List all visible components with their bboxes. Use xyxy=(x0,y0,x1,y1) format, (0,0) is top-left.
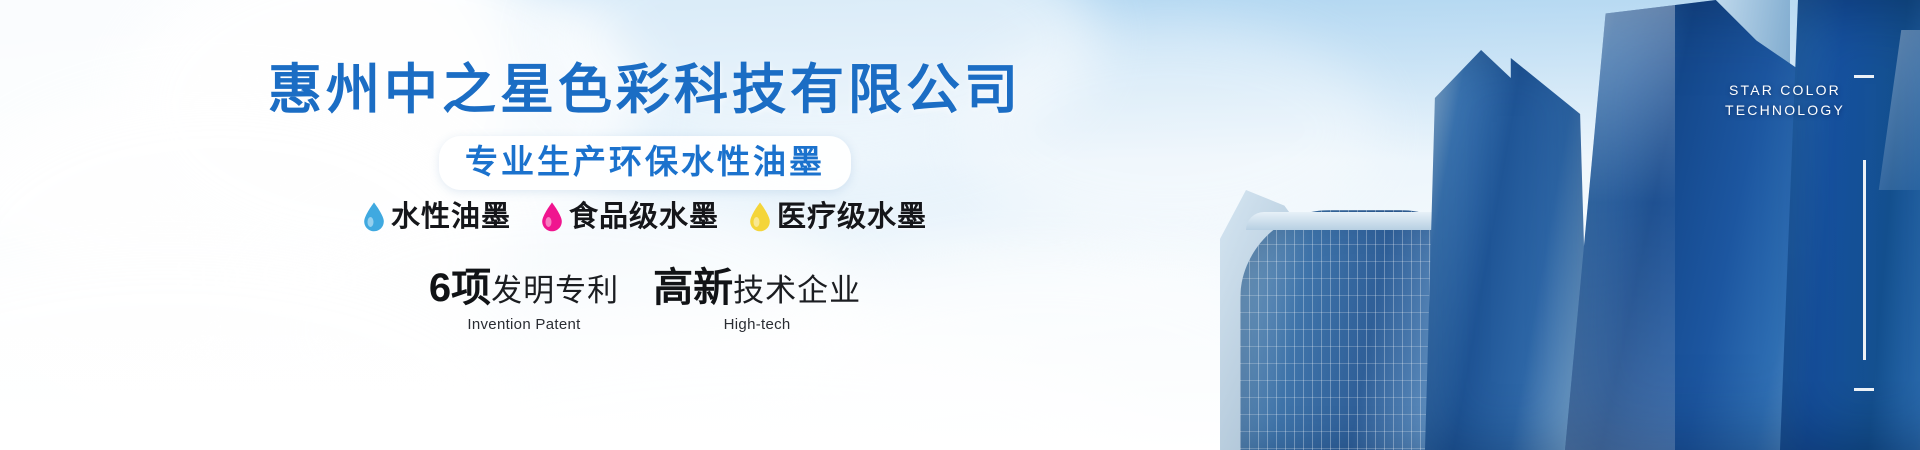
subtitle-pill: 专业生产环保水性油墨 xyxy=(439,136,851,190)
city-brand-line-1: STAR COLOR xyxy=(1690,80,1880,100)
feature-label: 医疗级水墨 xyxy=(777,200,927,234)
badge-list: 6项发明专利Invention Patent高新技术企业High-tech xyxy=(0,266,1290,334)
brand-vertical-rule xyxy=(1863,160,1866,360)
badge-headline: 高新技术企业 xyxy=(653,266,861,313)
brand-tick-bottom xyxy=(1854,388,1874,391)
brand-tick-top xyxy=(1854,75,1874,78)
building-right xyxy=(1780,0,1920,450)
water-drop-yellow-icon xyxy=(749,202,771,232)
city-brand-line-2: TECHNOLOGY xyxy=(1690,100,1880,120)
city-brand-text: STAR COLOR TECHNOLOGY xyxy=(1690,80,1880,120)
feature-item: 食品级水墨 xyxy=(541,200,719,234)
company-title: 惠州中之星色彩科技有限公司 xyxy=(0,60,1290,120)
water-drop-magenta-icon xyxy=(541,202,563,232)
water-drop-blue-icon xyxy=(363,202,385,232)
badge-highlight: 6项 xyxy=(429,266,491,310)
badge-text: 技术企业 xyxy=(733,269,861,313)
feature-label: 水性油墨 xyxy=(391,200,511,234)
badge-english-label: Invention Patent xyxy=(429,315,619,334)
subtitle-wrapper: 专业生产环保水性油墨 xyxy=(0,136,1290,190)
badge-english-label: High-tech xyxy=(653,315,861,334)
badge-highlight: 高新 xyxy=(653,266,733,310)
feature-label: 食品级水墨 xyxy=(569,200,719,234)
feature-item: 医疗级水墨 xyxy=(749,200,927,234)
skyscrapers-photo: STAR COLOR TECHNOLOGY xyxy=(1220,0,1920,450)
feature-item: 水性油墨 xyxy=(363,200,511,234)
glass-glint xyxy=(1879,30,1920,190)
promo-banner: Star Color STAR COLOR TECHNOLOGY 惠州中之星色彩… xyxy=(0,0,1920,450)
badge-item: 高新技术企业High-tech xyxy=(653,266,861,334)
feature-list: 水性油墨食品级水墨医疗级水墨 xyxy=(0,200,1290,234)
badge-item: 6项发明专利Invention Patent xyxy=(429,266,619,334)
badge-text: 发明专利 xyxy=(491,269,619,313)
building-center xyxy=(1425,50,1590,450)
badge-headline: 6项发明专利 xyxy=(429,266,619,313)
banner-copy: 惠州中之星色彩科技有限公司 专业生产环保水性油墨 水性油墨食品级水墨医疗级水墨 … xyxy=(0,0,1290,450)
